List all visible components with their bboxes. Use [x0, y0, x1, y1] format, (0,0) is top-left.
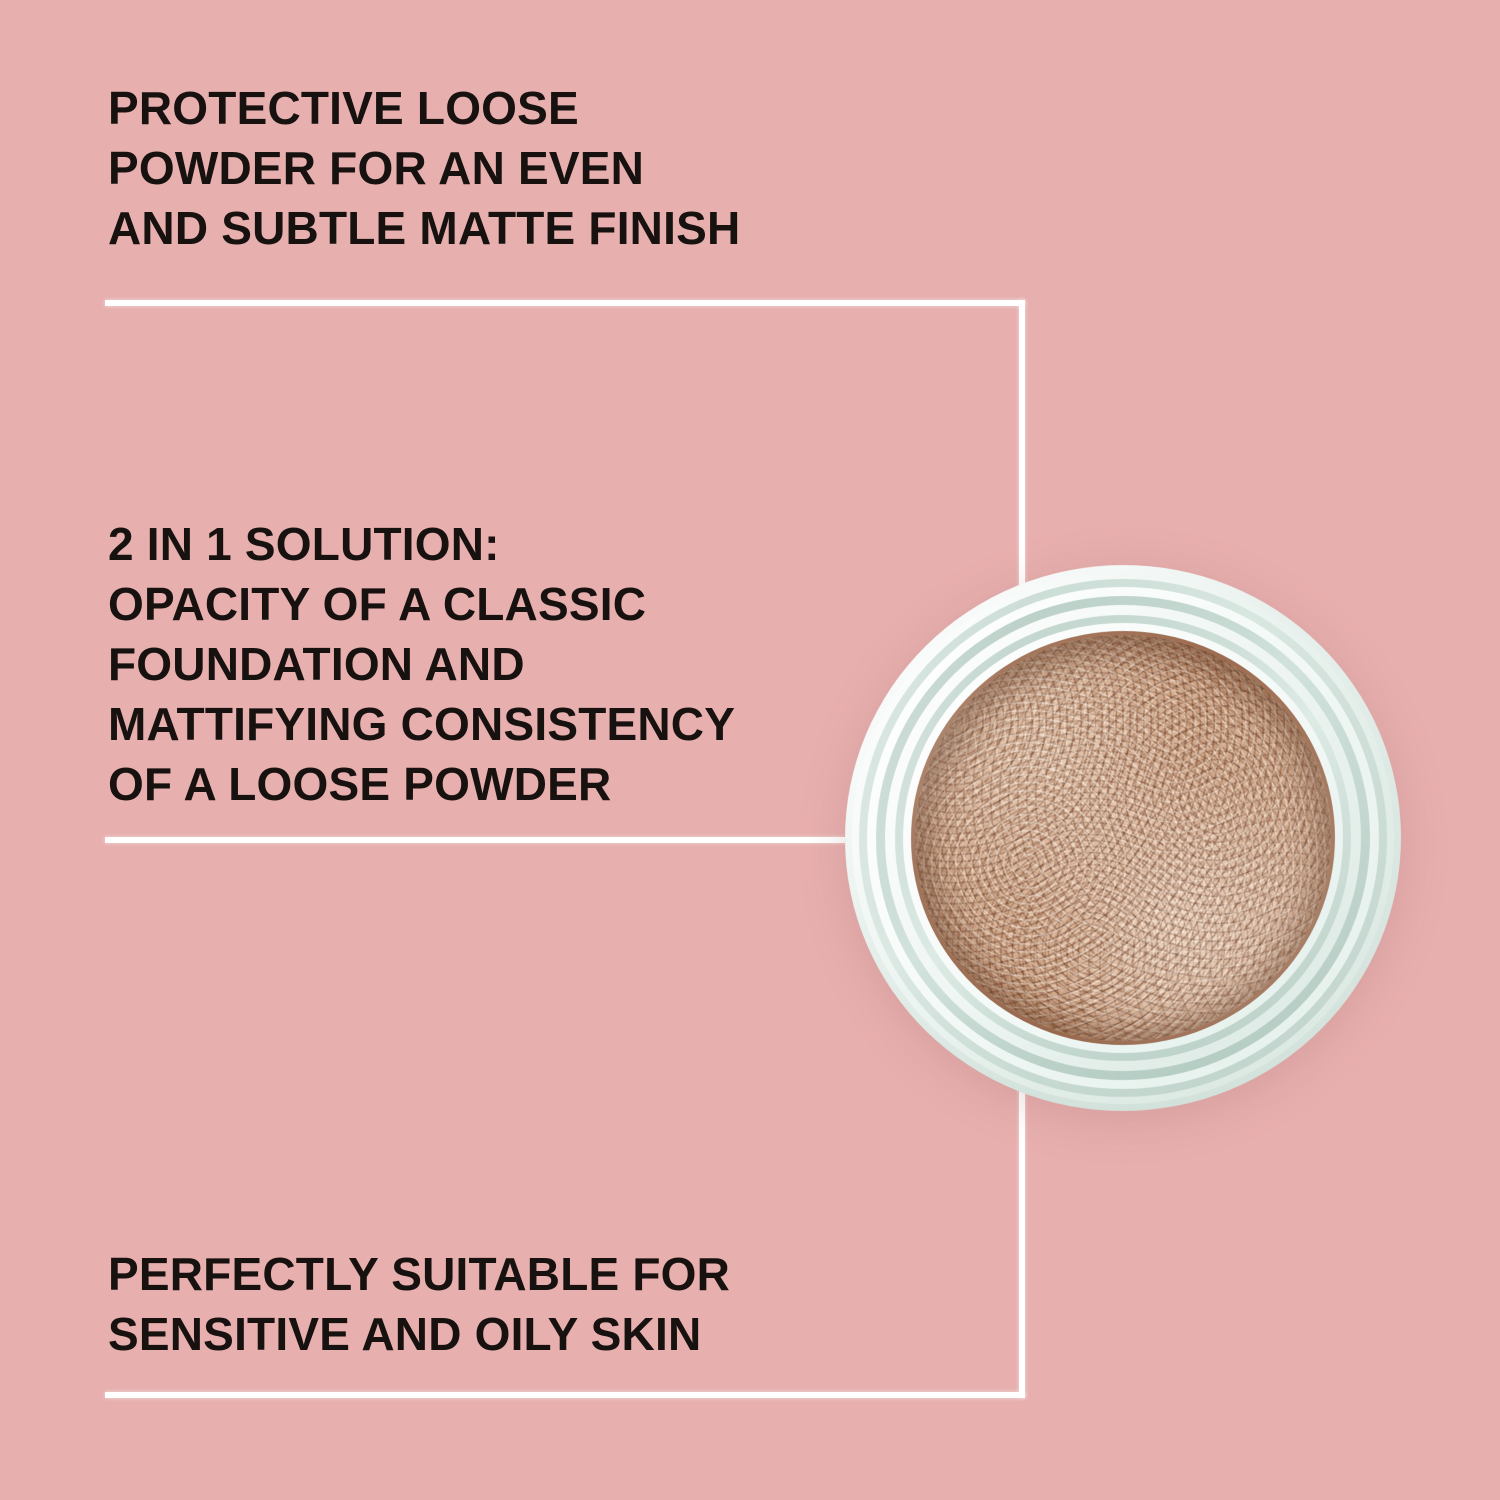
benefit-text: 2 IN 1 SOLUTION: OPACITY OF A CLASSIC FO… [108, 514, 908, 814]
loose-powder-jar-image [831, 551, 1415, 1125]
product-infographic: PROTECTIVE LOOSE POWDER FOR AN EVEN AND … [0, 0, 1500, 1500]
rule-top-horizontal [105, 300, 1025, 306]
rule-bottom-horizontal [105, 1392, 1025, 1398]
headline-text: PROTECTIVE LOOSE POWDER FOR AN EVEN AND … [108, 78, 938, 258]
skin-suitability-text: PERFECTLY SUITABLE FOR SENSITIVE AND OIL… [108, 1244, 938, 1364]
rule-middle-horizontal [105, 837, 845, 843]
